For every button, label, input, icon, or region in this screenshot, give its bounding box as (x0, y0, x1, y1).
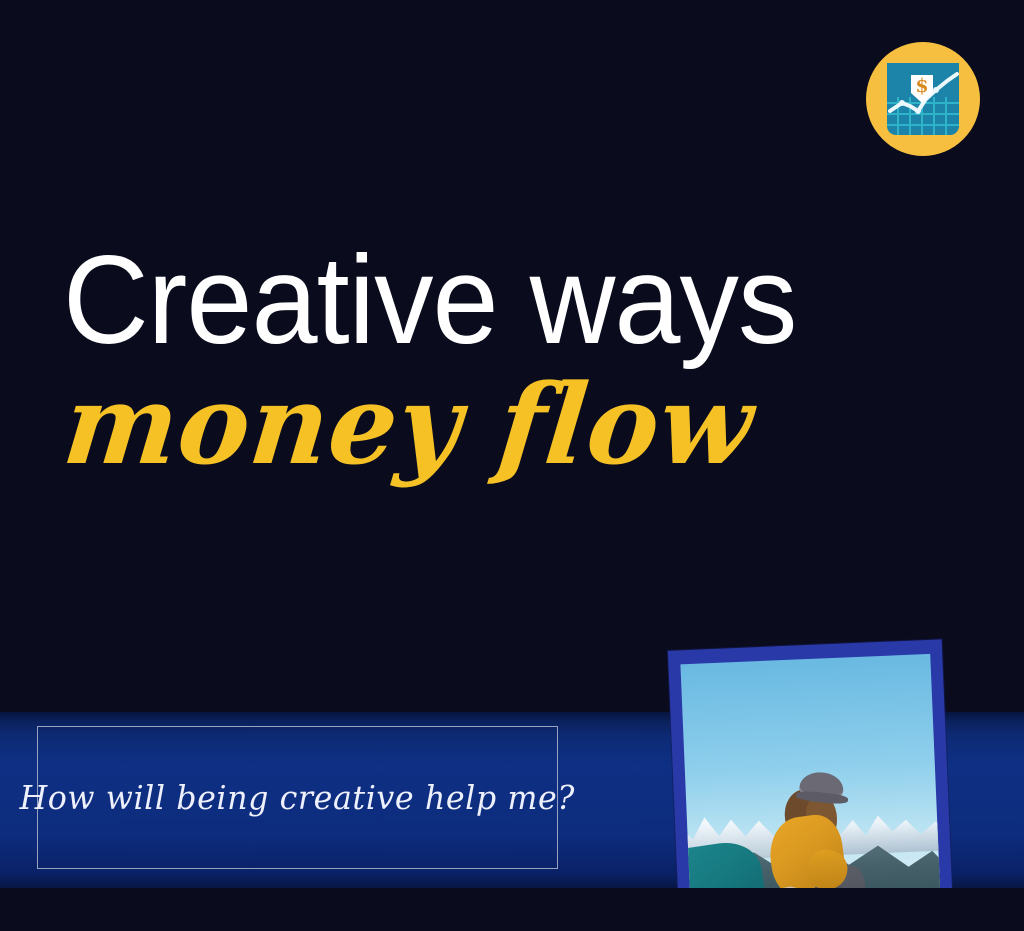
bottom-strip (0, 888, 1024, 931)
question-callout-box: How will being creative help me? (37, 726, 558, 869)
headline-line-primary: Creative ways (63, 236, 918, 366)
poster-canvas: $ Creative ways money flow How will bein… (0, 0, 1024, 931)
question-text: How will being creative help me? (20, 778, 575, 817)
money-growth-badge-logo: $ (866, 42, 980, 156)
svg-text:$: $ (915, 75, 928, 97)
headline-block: Creative ways money flow (63, 236, 963, 490)
chart-dollar-icon: $ (885, 61, 961, 137)
headline-line-script: money flow (58, 360, 943, 490)
